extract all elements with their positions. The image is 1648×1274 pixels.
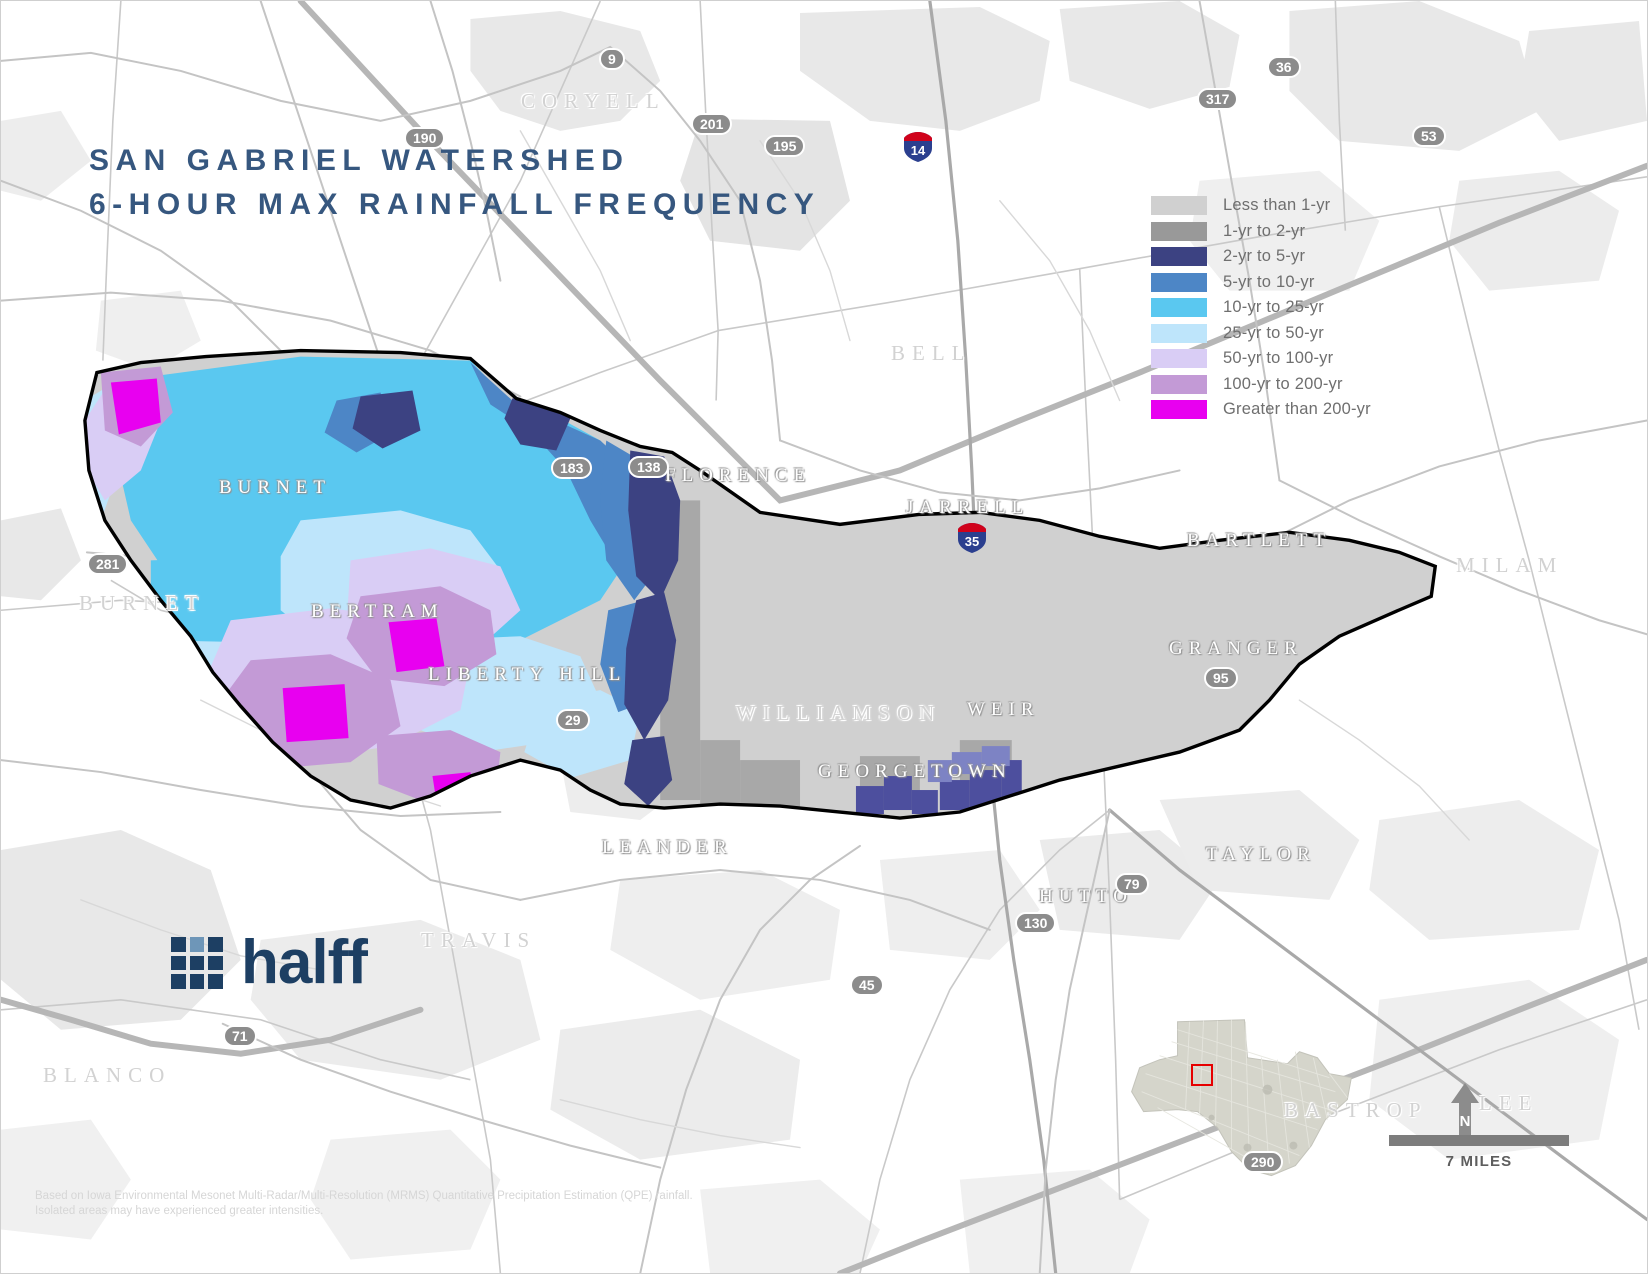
highway-shield: 130 (1015, 912, 1056, 934)
highway-shield-number: 79 (1124, 876, 1140, 892)
legend-swatch (1151, 400, 1207, 419)
legend-row: 5-yr to 10-yr (1151, 270, 1371, 296)
legend-swatch (1151, 196, 1207, 215)
legend-swatch (1151, 273, 1207, 292)
legend-label: Greater than 200-yr (1223, 400, 1371, 419)
highway-shield: 36 (1267, 56, 1301, 78)
legend-label: 10-yr to 25-yr (1223, 298, 1324, 317)
halff-logo-grid-icon (171, 937, 223, 989)
highway-shield-number: 195 (773, 138, 796, 154)
inset-locator-box (1191, 1064, 1213, 1086)
source-footnote: Based on Iowa Environmental Mesonet Mult… (35, 1189, 693, 1219)
highway-shield: 14 (904, 132, 932, 162)
legend-row: 100-yr to 200-yr (1151, 372, 1371, 398)
highway-shield-number: 138 (637, 459, 660, 475)
highway-shield-number: 53 (1421, 128, 1437, 144)
legend-label: 2-yr to 5-yr (1223, 247, 1305, 266)
legend-row: Greater than 200-yr (1151, 397, 1371, 423)
legend-row: 10-yr to 25-yr (1151, 295, 1371, 321)
rainfall-frequency-map: SAN GABRIEL WATERSHED 6-HOUR MAX RAINFAL… (0, 0, 1648, 1274)
legend-label: Less than 1-yr (1223, 196, 1330, 215)
legend-row: 2-yr to 5-yr (1151, 244, 1371, 270)
highway-shield: 190 (404, 127, 445, 149)
highway-shield-number: 45 (859, 977, 875, 993)
highway-shield-number: 281 (96, 556, 119, 572)
legend-swatch (1151, 247, 1207, 266)
highway-shield: 45 (850, 974, 884, 996)
highway-shield: 317 (1197, 88, 1238, 110)
legend-swatch (1151, 349, 1207, 368)
legend-label: 50-yr to 100-yr (1223, 349, 1333, 368)
highway-shield: 35 (958, 523, 986, 553)
highway-shield-number: 201 (700, 116, 723, 132)
north-arrow-icon: N (1449, 1083, 1481, 1135)
legend-row: Less than 1-yr (1151, 193, 1371, 219)
highway-shield-number: 71 (232, 1028, 248, 1044)
map-title-line2: 6-HOUR MAX RAINFALL FREQUENCY (89, 183, 820, 227)
highway-shield: 29 (556, 709, 590, 731)
footnote-line1: Based on Iowa Environmental Mesonet Mult… (35, 1189, 693, 1204)
legend-swatch (1151, 375, 1207, 394)
highway-shield-number: 14 (911, 137, 925, 158)
highway-shield: 138 (628, 456, 669, 478)
legend-label: 25-yr to 50-yr (1223, 324, 1324, 343)
legend-label: 1-yr to 2-yr (1223, 222, 1305, 241)
highway-shield-number: 183 (560, 460, 583, 476)
highway-shield-number: 29 (565, 712, 581, 728)
highway-shield: 183 (551, 457, 592, 479)
halff-logo: halff (171, 937, 367, 989)
legend-swatch (1151, 222, 1207, 241)
footnote-line2: Isolated areas may have experienced grea… (35, 1204, 693, 1219)
highway-shield-number: 35 (965, 528, 979, 549)
legend-swatch (1151, 324, 1207, 343)
legend-row: 25-yr to 50-yr (1151, 321, 1371, 347)
highway-shield: 9 (599, 48, 625, 70)
map-title-line1: SAN GABRIEL WATERSHED (89, 139, 820, 183)
highway-shield: 71 (223, 1025, 257, 1047)
legend-label: 100-yr to 200-yr (1223, 375, 1343, 394)
scale-bar-label: 7 MILES (1389, 1153, 1569, 1170)
highway-shield-number: 317 (1206, 91, 1229, 107)
highway-shield: 79 (1115, 873, 1149, 895)
map-title: SAN GABRIEL WATERSHED 6-HOUR MAX RAINFAL… (89, 139, 820, 227)
halff-logo-text: halff (241, 938, 367, 989)
legend-label: 5-yr to 10-yr (1223, 273, 1315, 292)
highway-shield-number: 36 (1276, 59, 1292, 75)
highway-shield-number: 130 (1024, 915, 1047, 931)
highway-shield: 281 (87, 553, 128, 575)
north-arrow-label: N (1449, 1113, 1481, 1130)
highway-shield: 290 (1242, 1151, 1283, 1173)
legend: Less than 1-yr1-yr to 2-yr2-yr to 5-yr5-… (1151, 193, 1371, 423)
highway-shield: 195 (764, 135, 805, 157)
scale-bar (1389, 1135, 1569, 1146)
highway-shield: 201 (691, 113, 732, 135)
highway-shield-number: 290 (1251, 1154, 1274, 1170)
legend-row: 50-yr to 100-yr (1151, 346, 1371, 372)
highway-shield-number: 9 (608, 51, 616, 67)
highway-shield-number: 95 (1213, 670, 1229, 686)
highway-shield: 53 (1412, 125, 1446, 147)
highway-shield-number: 190 (413, 130, 436, 146)
legend-row: 1-yr to 2-yr (1151, 219, 1371, 245)
legend-swatch (1151, 298, 1207, 317)
highway-shield: 95 (1204, 667, 1238, 689)
